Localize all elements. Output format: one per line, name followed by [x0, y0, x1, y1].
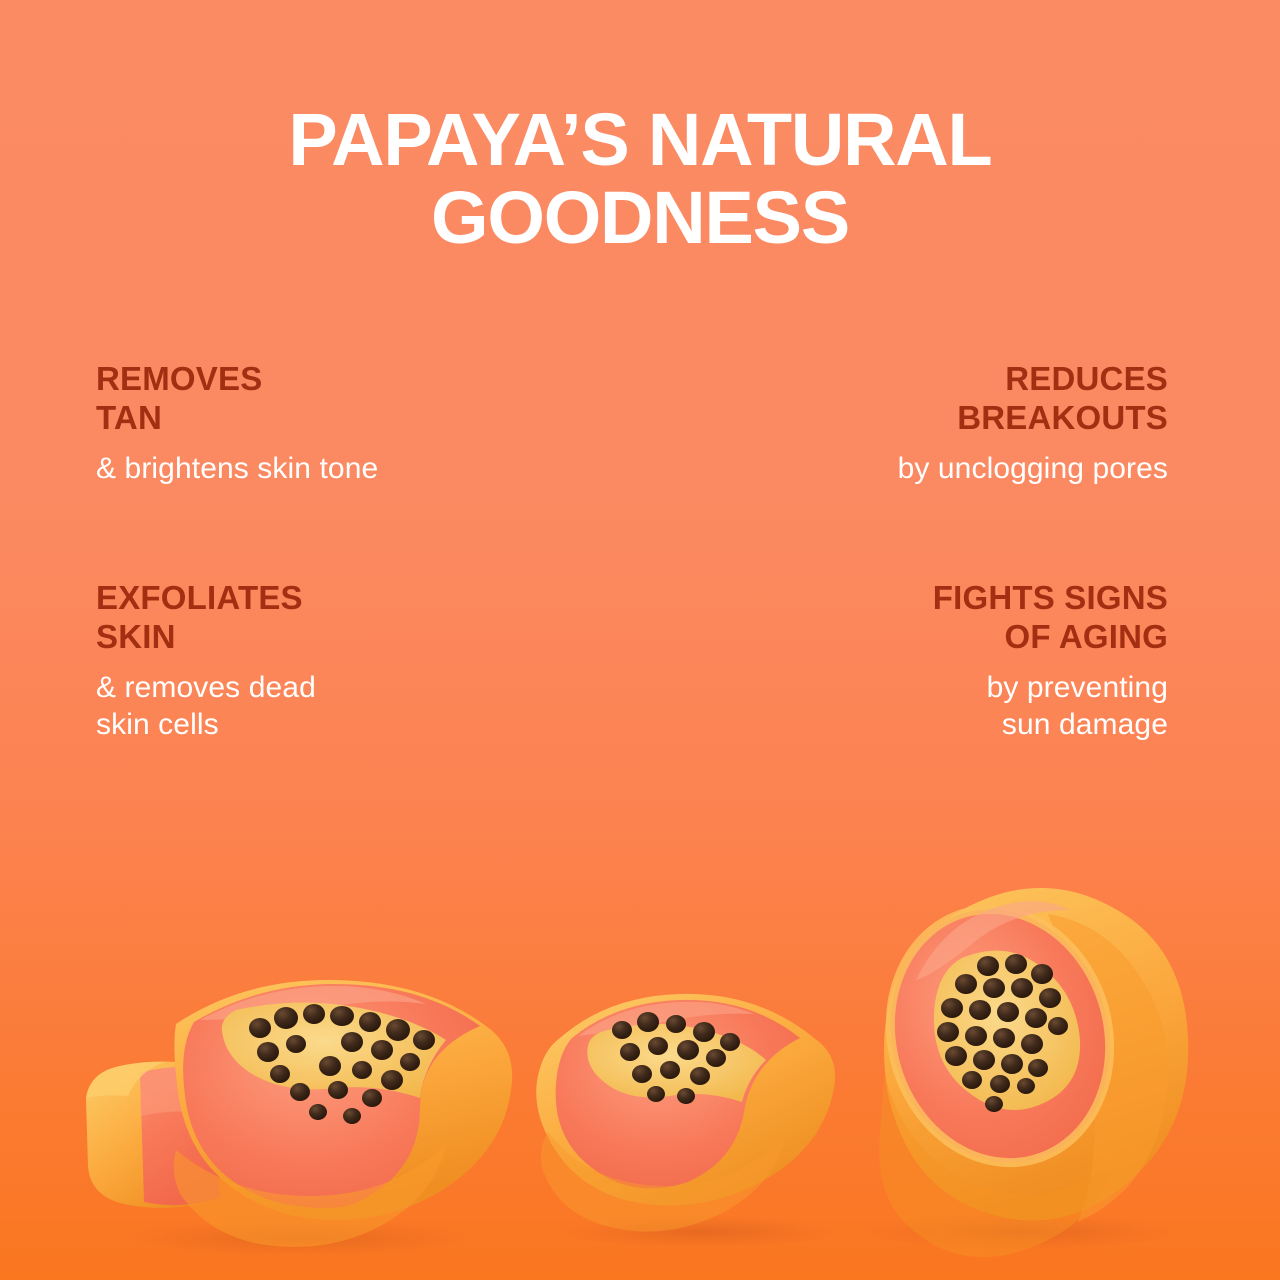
sub-line: by unclogging pores	[782, 450, 1168, 487]
papaya-half	[861, 883, 1188, 1257]
sub-line: by preventing	[782, 669, 1168, 706]
feature-grid: REMOVES TAN & brightens skin tone REDUCE…	[96, 360, 1168, 743]
feature-sub-removes-tan: & brightens skin tone	[96, 450, 482, 487]
feature-exfoliates-skin: EXFOLIATES SKIN & removes dead skin cell…	[96, 579, 482, 743]
heading-line: BREAKOUTS	[782, 399, 1168, 438]
feature-heading-reduces-breakouts: REDUCES BREAKOUTS	[782, 360, 1168, 438]
feature-heading-exfoliates-skin: EXFOLIATES SKIN	[96, 579, 482, 657]
heading-line: TAN	[96, 399, 482, 438]
sub-line: sun damage	[782, 706, 1168, 743]
feature-sub-exfoliates-skin: & removes dead skin cells	[96, 669, 482, 743]
heading-line: EXFOLIATES	[96, 579, 482, 618]
heading-line: SKIN	[96, 618, 482, 657]
sub-line: skin cells	[96, 706, 482, 743]
papaya-large-wedge	[174, 980, 512, 1247]
heading-line: REMOVES	[96, 360, 482, 399]
page-title: PAPAYA’S NATURAL GOODNESS	[0, 104, 1280, 254]
feature-fights-signs-of-aging: FIGHTS SIGNS OF AGING by preventing sun …	[782, 579, 1168, 743]
feature-heading-removes-tan: REMOVES TAN	[96, 360, 482, 438]
feature-reduces-breakouts: REDUCES BREAKOUTS by unclogging pores	[782, 360, 1168, 487]
sub-line: & brightens skin tone	[96, 450, 482, 487]
feature-removes-tan: REMOVES TAN & brightens skin tone	[96, 360, 482, 487]
heading-line: REDUCES	[782, 360, 1168, 399]
feature-sub-reduces-breakouts: by unclogging pores	[782, 450, 1168, 487]
sub-line: & removes dead	[96, 669, 482, 706]
title-line-1: PAPAYA’S NATURAL	[90, 104, 1190, 176]
feature-sub-fights-signs-of-aging: by preventing sun damage	[782, 669, 1168, 743]
title-line-2: GOODNESS	[90, 182, 1190, 254]
poster-canvas: PAPAYA’S NATURAL GOODNESS REMOVES TAN & …	[0, 0, 1280, 1280]
papaya-middle-wedge	[536, 994, 835, 1232]
feature-heading-fights-signs-of-aging: FIGHTS SIGNS OF AGING	[782, 579, 1168, 657]
heading-line: FIGHTS SIGNS	[782, 579, 1168, 618]
papaya-imagery	[0, 860, 1280, 1280]
papaya-illustration	[0, 860, 1280, 1280]
heading-line: OF AGING	[782, 618, 1168, 657]
